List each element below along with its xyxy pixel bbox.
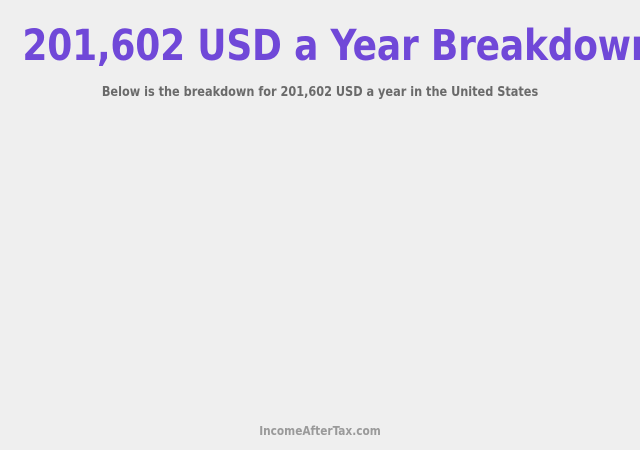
chart-content-area — [0, 112, 640, 412]
page-root: 201,602 USD a Year Breakdown Below is th… — [0, 0, 640, 450]
site-watermark: IncomeAfterTax.com — [19, 423, 621, 439]
page-title: 201,602 USD a Year Breakdown — [22, 22, 617, 70]
page-subtitle: Below is the breakdown for 201,602 USD a… — [22, 84, 617, 101]
